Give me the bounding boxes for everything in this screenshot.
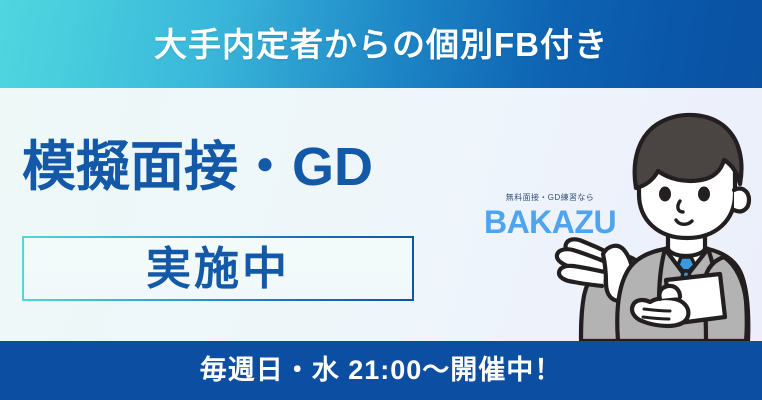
bottom-banner-strip: 毎週日・水 21:00〜開催中！ <box>0 341 762 400</box>
right-eye <box>698 187 710 202</box>
top-banner-strip: 大手内定者からの個別FB付き <box>0 0 762 88</box>
status-badge-label: 実施中 <box>146 246 290 291</box>
necktie-knot <box>678 257 695 271</box>
main-headline: 模擬面接・GD <box>22 140 373 194</box>
businessman-presenting-illustration <box>548 102 762 341</box>
promo-banner: 大手内定者からの個別FB付き 模擬面接・GD 実施中 無料面接・GD練習なら B… <box>0 0 762 400</box>
main-content-area: 模擬面接・GD 実施中 無料面接・GD練習なら BAKAZU <box>0 88 762 341</box>
ear <box>734 189 749 212</box>
top-banner-headline: 大手内定者からの個別FB付き <box>154 28 608 61</box>
schedule-text: 毎週日・水 21:00〜開催中！ <box>200 357 563 384</box>
status-badge-box: 実施中 <box>22 236 414 301</box>
left-eye <box>659 187 671 202</box>
